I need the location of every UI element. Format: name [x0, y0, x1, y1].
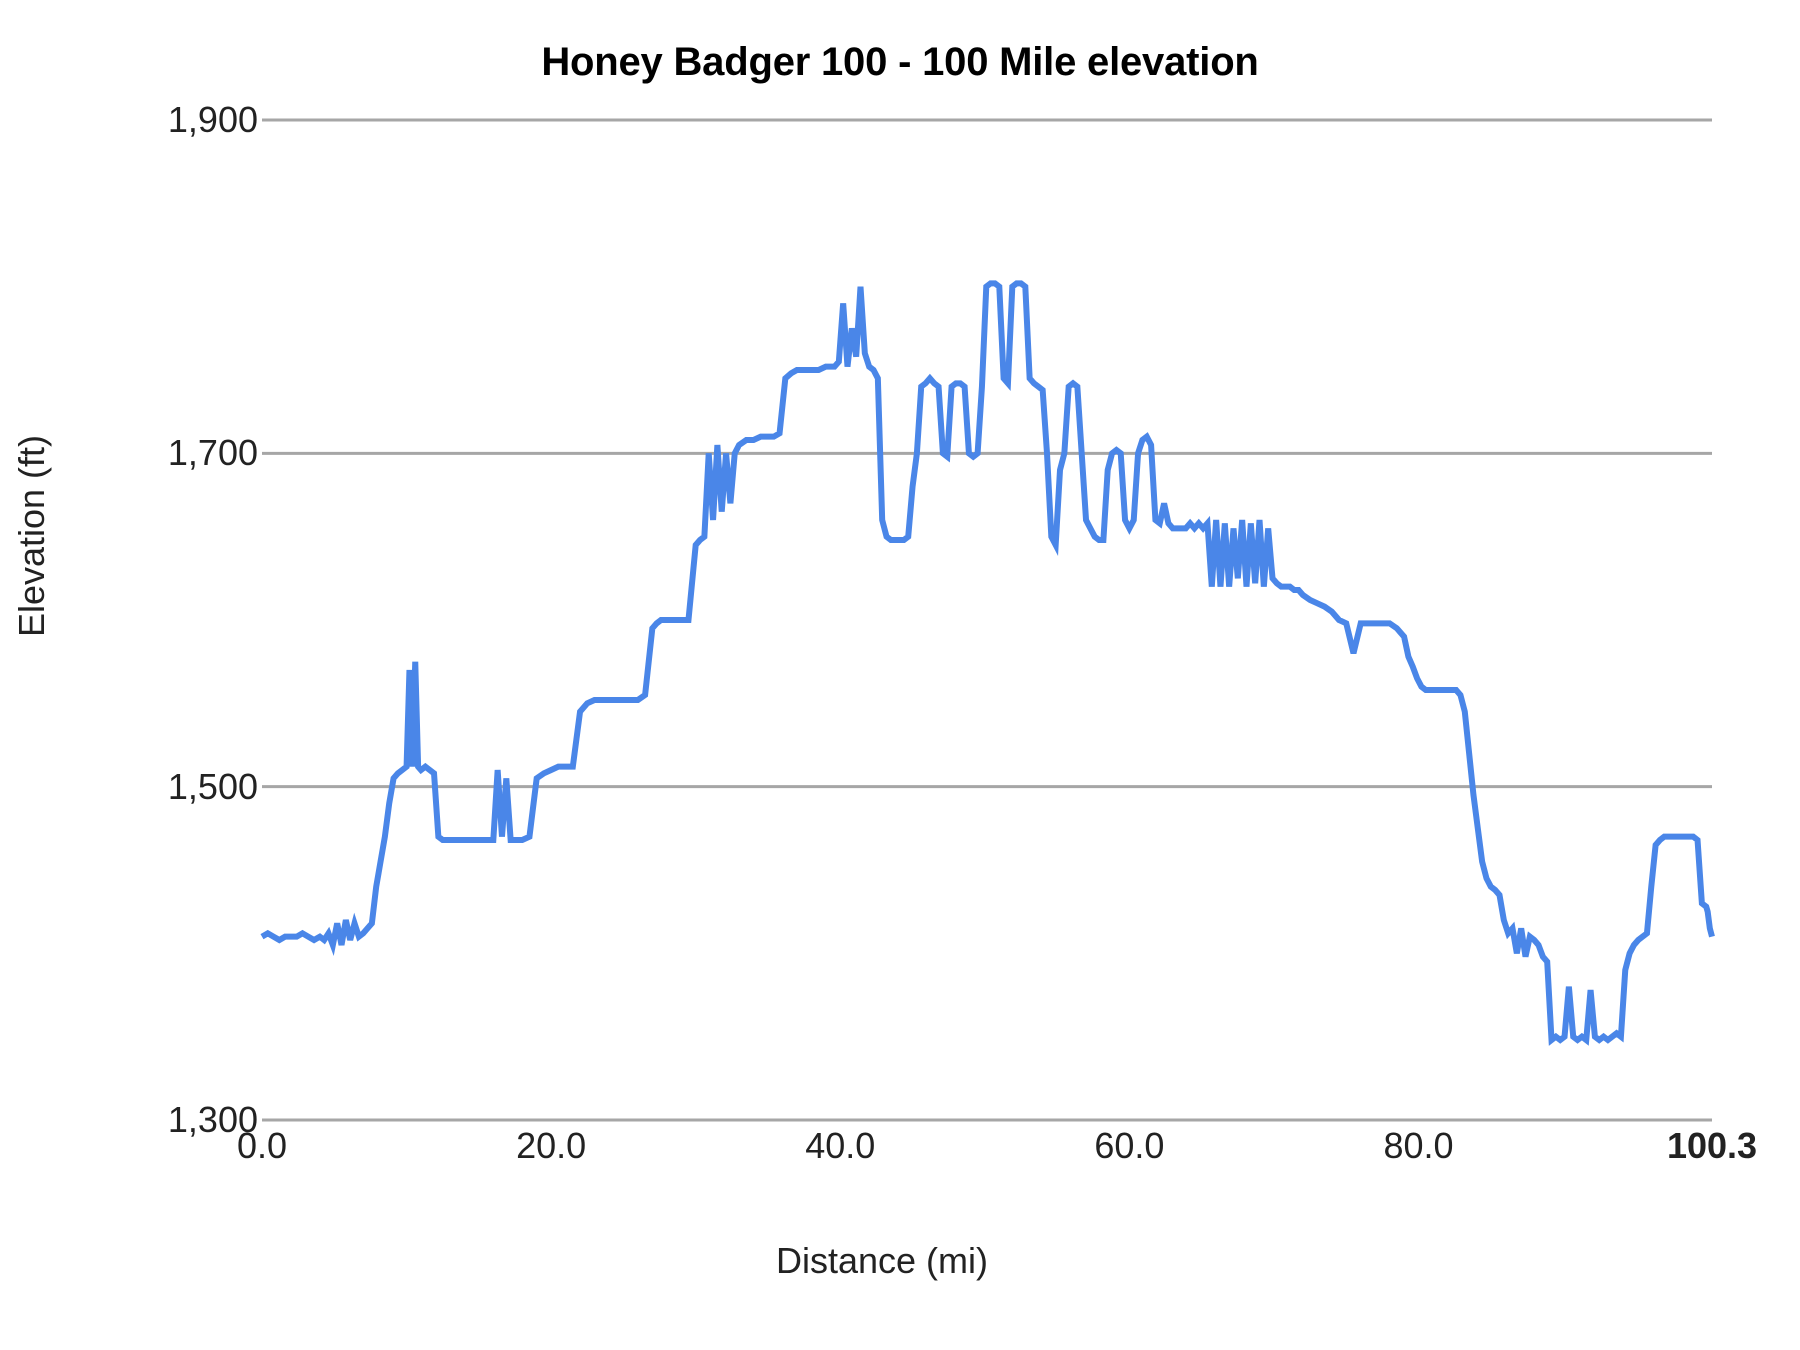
plot-area — [262, 120, 1712, 1120]
gridlines — [262, 120, 1712, 1120]
x-tick-label: 0.0 — [237, 1125, 287, 1167]
plot-svg — [262, 120, 1712, 1120]
x-tick-label: 20.0 — [516, 1125, 586, 1167]
y-tick-label: 1,500 — [98, 766, 258, 808]
x-tick-label: 40.0 — [805, 1125, 875, 1167]
elevation-series-line — [262, 283, 1712, 1040]
x-tick-label: 100.3 — [1667, 1125, 1757, 1167]
y-tick-label: 1,900 — [98, 99, 258, 141]
y-axis-tick-labels: 1,3001,5001,7001,900 — [0, 0, 258, 1350]
y-tick-label: 1,700 — [98, 432, 258, 474]
x-tick-label: 60.0 — [1094, 1125, 1164, 1167]
x-axis-title: Distance (mi) — [262, 1240, 1502, 1282]
elevation-chart: Honey Badger 100 - 100 Mile elevation El… — [0, 0, 1800, 1350]
y-tick-label: 1,300 — [98, 1099, 258, 1141]
chart-title: Honey Badger 100 - 100 Mile elevation — [0, 40, 1800, 85]
x-tick-label: 80.0 — [1383, 1125, 1453, 1167]
